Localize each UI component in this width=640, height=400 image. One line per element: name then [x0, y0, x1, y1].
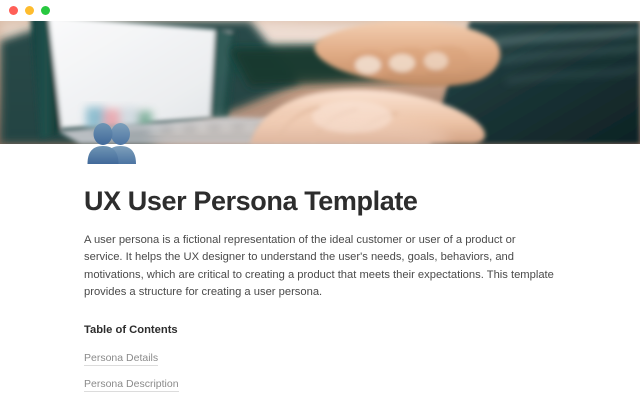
maximize-button[interactable] — [41, 6, 50, 15]
users-icon — [84, 122, 140, 164]
list-item: Persona Description — [84, 374, 179, 400]
list-item: Persona Details — [84, 348, 179, 374]
toc-link-persona-details[interactable]: Persona Details — [84, 352, 158, 366]
close-button[interactable] — [9, 6, 18, 15]
page-title: UX User Persona Template — [84, 186, 418, 217]
traffic-lights — [9, 6, 50, 15]
window-titlebar — [0, 0, 640, 21]
table-of-contents-list: Persona Details Persona Description — [84, 348, 179, 400]
document-intro-paragraph: A user persona is a fictional representa… — [84, 232, 556, 302]
document-page: UX User Persona Template A user persona … — [0, 144, 640, 400]
browser-window: UX User Persona Template A user persona … — [0, 0, 640, 400]
minimize-button[interactable] — [25, 6, 34, 15]
users-icon-glyph — [84, 122, 140, 164]
table-of-contents-heading: Table of Contents — [84, 324, 178, 336]
toc-link-persona-description[interactable]: Persona Description — [84, 378, 179, 392]
